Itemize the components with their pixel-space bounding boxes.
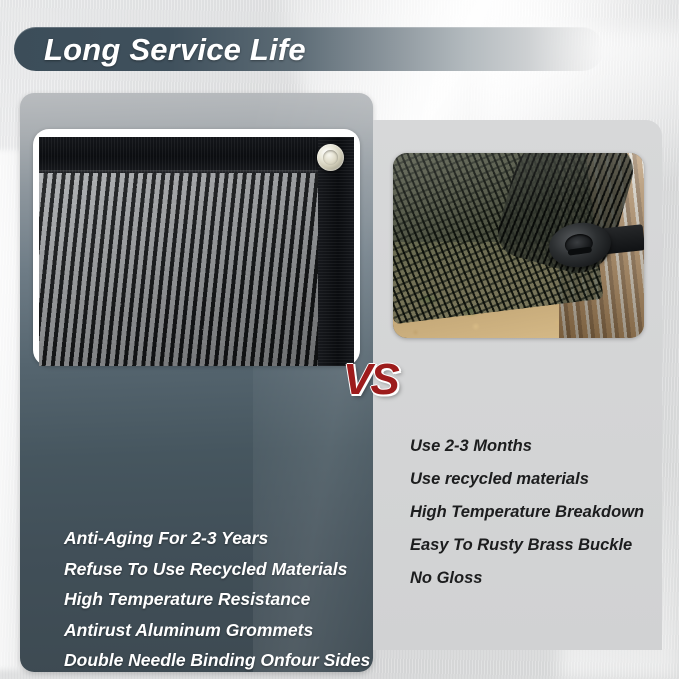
good-feature-list: Anti-Aging For 2-3 Years Refuse To Use R… <box>64 523 373 672</box>
list-item: Anti-Aging For 2-3 Years <box>64 523 373 554</box>
good-product-photo <box>39 137 354 366</box>
photo-gloss-overlay <box>393 153 644 338</box>
list-item: Antirust Aluminum Grommets <box>64 615 373 646</box>
bad-product-photo <box>393 153 644 338</box>
good-product-photo-frame <box>33 129 360 366</box>
binding-tape-top <box>39 137 354 173</box>
page-title: Long Service Life <box>44 28 306 72</box>
vs-badge: VS <box>343 358 398 402</box>
aluminum-grommet-icon <box>317 144 344 171</box>
list-item: Refuse To Use Recycled Materials <box>64 554 373 585</box>
list-item: Use recycled materials <box>410 463 676 496</box>
list-item: No Gloss <box>410 562 676 595</box>
bad-feature-list: Use 2-3 Months Use recycled materials Hi… <box>410 430 676 595</box>
infographic-canvas: Long Service Life Anti-Aging For 2-3 Yea… <box>0 0 679 679</box>
list-item: Use 2-3 Months <box>410 430 676 463</box>
good-product-panel: Anti-Aging For 2-3 Years Refuse To Use R… <box>20 93 373 672</box>
list-item: Double Needle Binding Onfour Sides <box>64 645 373 672</box>
list-item: High Temperature Resistance <box>64 584 373 615</box>
binding-tape-right <box>318 137 354 366</box>
list-item: Easy To Rusty Brass Buckle <box>410 529 676 562</box>
list-item: High Temperature Breakdown <box>410 496 676 529</box>
